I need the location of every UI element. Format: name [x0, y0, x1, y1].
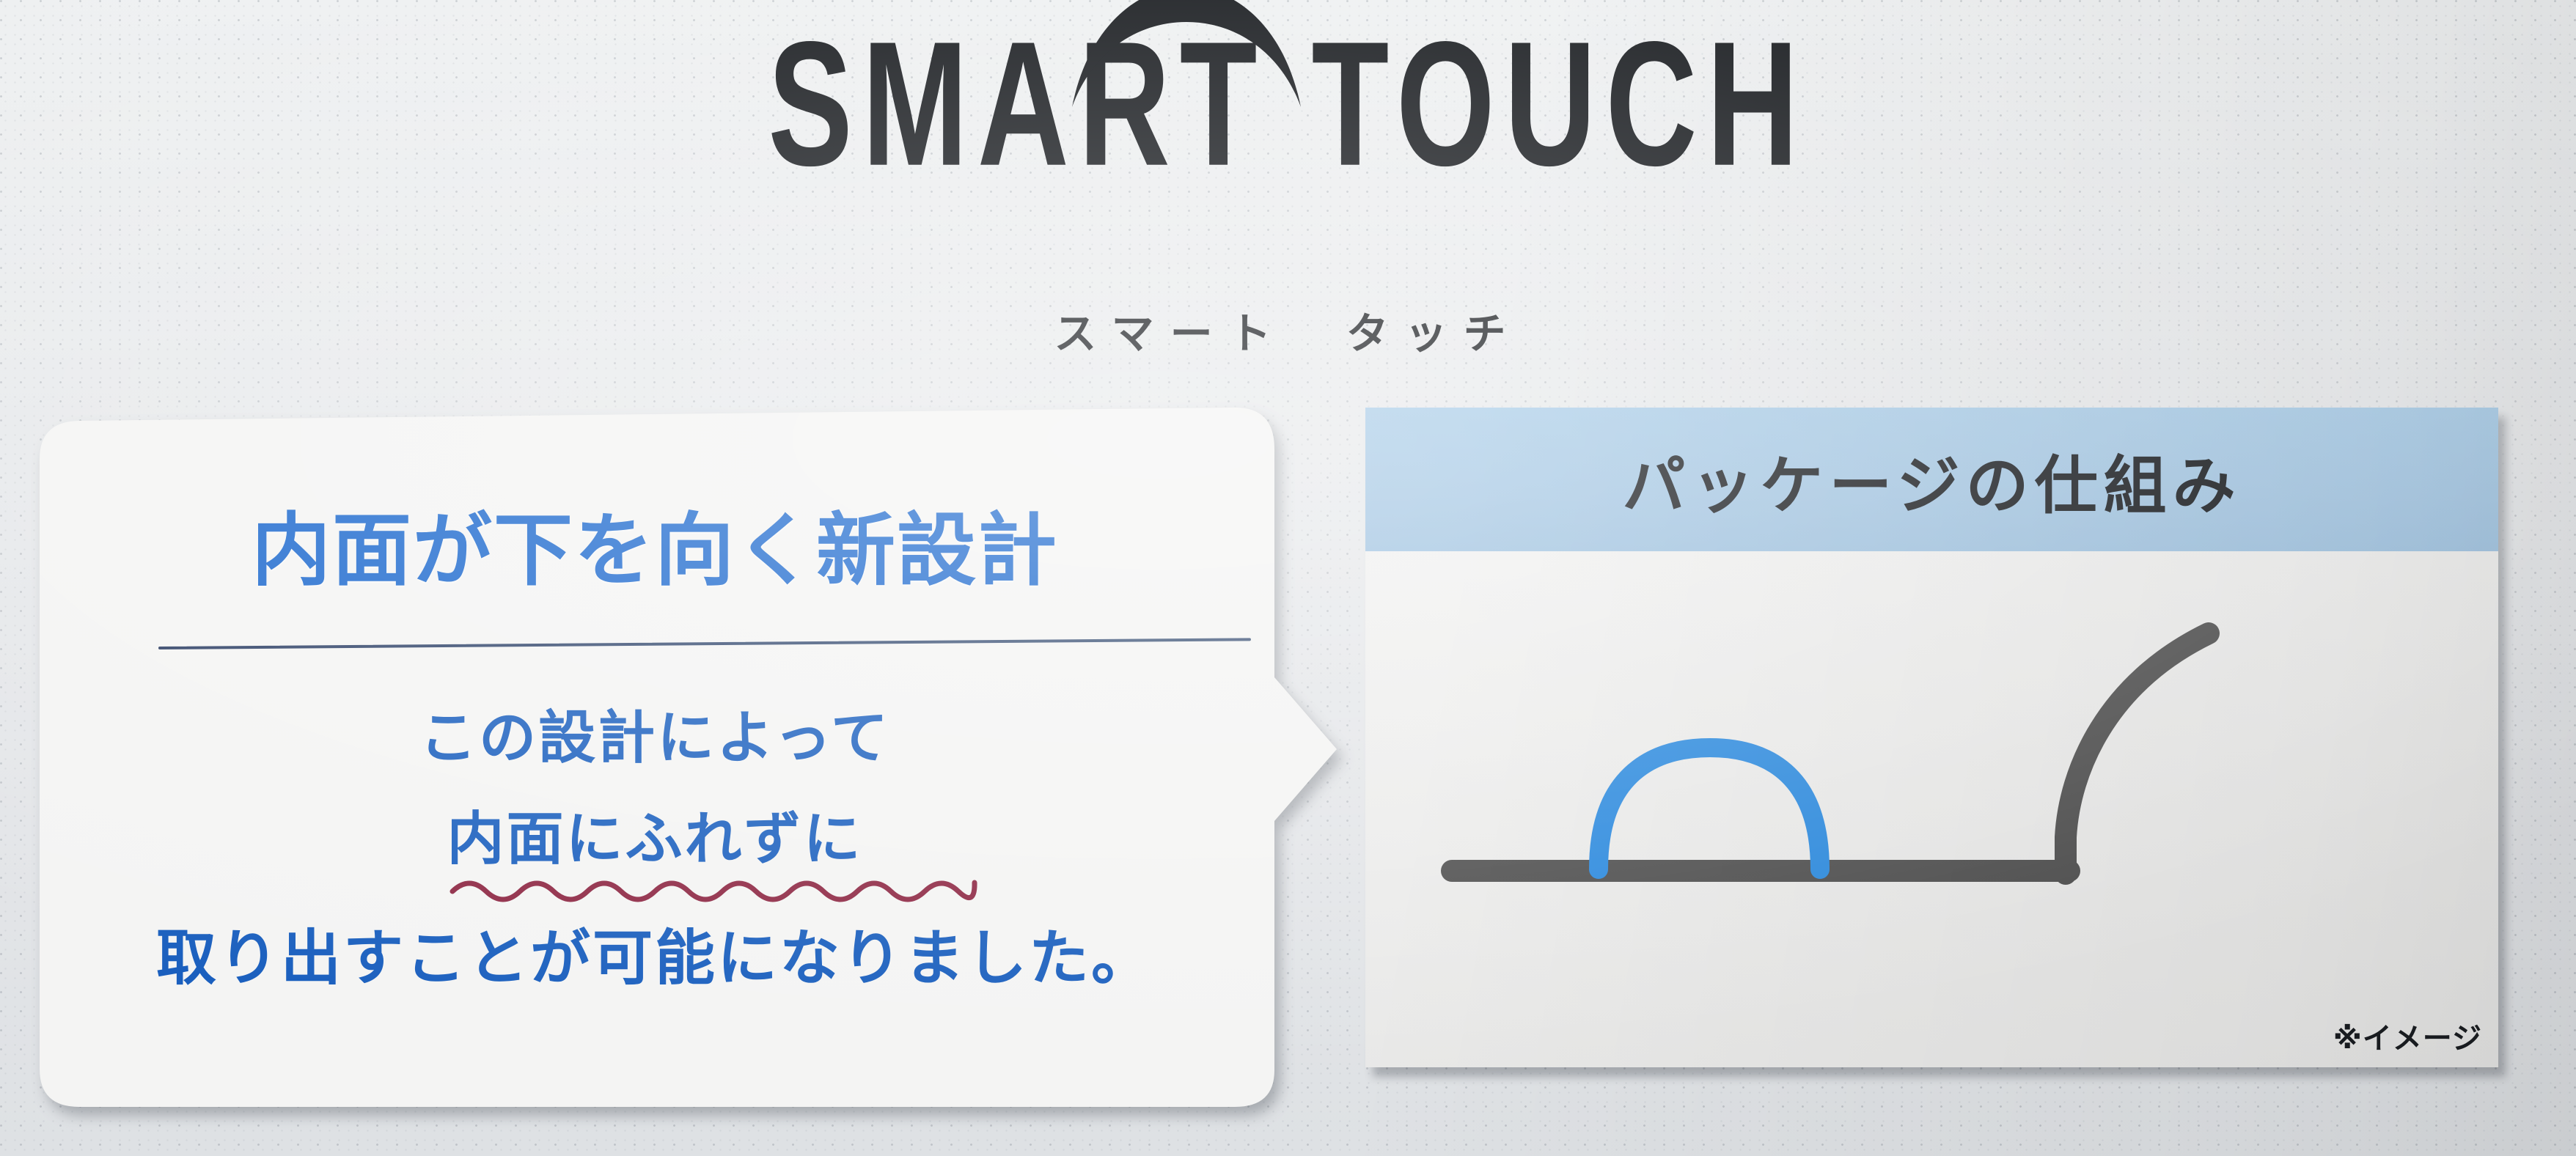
bubble-body-line-3: 取り出すことが可能になりました。	[35, 909, 1274, 996]
package-cross-section-diagram	[1365, 551, 2498, 918]
smart-touch-poster: SMART TOUCH スマート タッチ 内面が下を向く新設計 この設計によって…	[0, 0, 2576, 1156]
title-wrap: SMART TOUCH	[724, 16, 1852, 152]
bubble-heading: 内面が下を向く新設計	[35, 487, 1274, 601]
wavy-underline-icon	[449, 872, 977, 903]
poster-title-block: SMART TOUCH	[0, 16, 2576, 152]
package-mechanism-panel: パッケージの仕組み 内面が下を向く設計 ※イメージ	[1365, 408, 2498, 1067]
left-speech-bubble: 内面が下を向く新設計 この設計によって 内面にふれずに 取り出すことが可能になり…	[35, 405, 1337, 1108]
bubble-divider	[158, 638, 1251, 649]
panel-header-title: パッケージの仕組み	[1622, 434, 2241, 526]
image-disclaimer-note: ※イメージ	[2333, 1015, 2482, 1057]
page-title: SMART TOUCH	[764, 16, 1812, 194]
panel-header: パッケージの仕組み	[1365, 408, 2498, 551]
title-kana-subtitle: スマート タッチ	[0, 299, 2576, 361]
speech-bubble-content: 内面が下を向く新設計 この設計によって 内面にふれずに 取り出すことが可能になり…	[35, 405, 1274, 1108]
bubble-body-line-1: この設計によって	[35, 692, 1274, 774]
bubble-body-line-2: 内面にふれずに	[35, 793, 1274, 875]
